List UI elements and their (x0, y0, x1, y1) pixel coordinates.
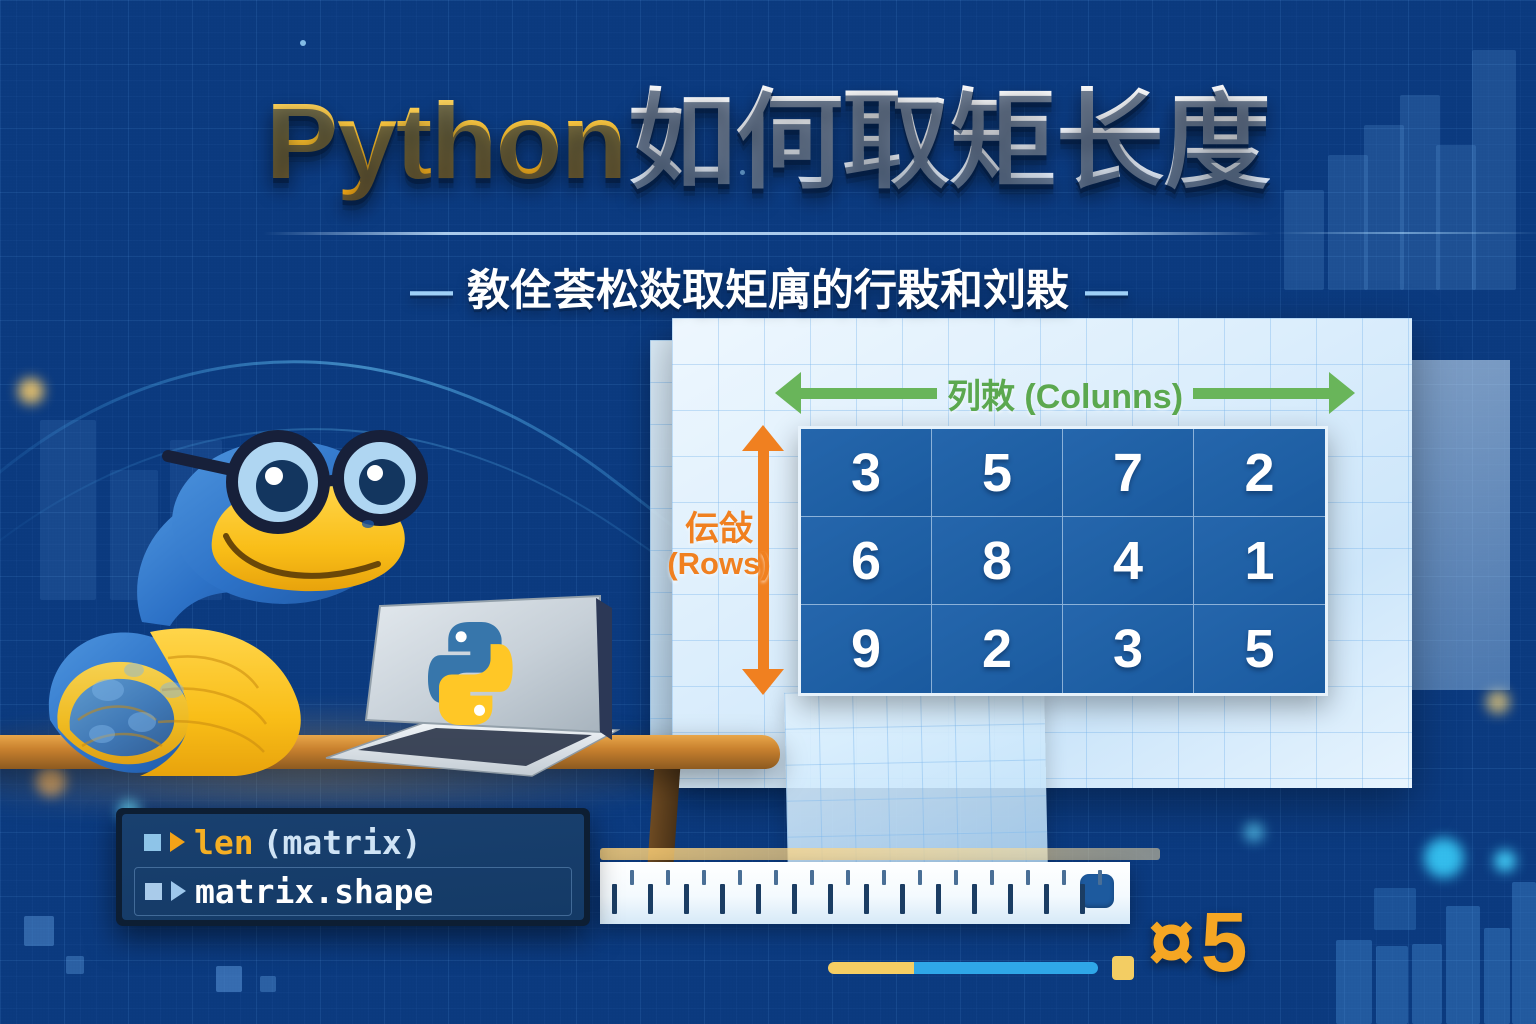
deco-progress-bar (828, 962, 1098, 974)
ruler-tick (846, 870, 850, 885)
ruler-tick (720, 884, 725, 914)
bokeh-dot (1244, 822, 1264, 842)
deco-chip (1112, 956, 1134, 980)
matrix-cell: 8 (932, 517, 1063, 605)
ruler-tick (756, 884, 761, 914)
subtitle-dash-right: — (1069, 267, 1142, 315)
subtitle-dash-left: — (394, 267, 467, 315)
bullet-square-icon (145, 883, 162, 900)
deco-line (1270, 232, 1536, 234)
deco-bar (1412, 944, 1442, 1024)
deco-square (260, 976, 276, 992)
ruler-tick (900, 884, 905, 914)
arrow-left-icon (775, 372, 801, 414)
play-triangle-icon (170, 832, 185, 852)
code-line-1[interactable]: len(matrix) (122, 818, 584, 867)
bokeh-dot (1424, 838, 1464, 878)
matrix-cell: 4 (1063, 517, 1194, 605)
board-front-panel-grid (784, 687, 1048, 872)
deco-bar (1446, 906, 1480, 1024)
ruler-tick (1044, 884, 1049, 914)
board-right-sheet (1400, 360, 1510, 690)
deco-bar (1512, 882, 1536, 1024)
matrix-cell: 2 (932, 605, 1063, 693)
snake-eye-left (256, 460, 308, 512)
code-line-2[interactable]: matrix.shape (134, 867, 572, 916)
ruler-tick (1008, 884, 1013, 914)
progress-remaining (914, 962, 1098, 974)
ruler-tick (1026, 870, 1030, 885)
ruler-tick (612, 884, 617, 914)
ruler-tick (684, 884, 689, 914)
matrix-cell: 7 (1063, 429, 1194, 517)
subtitle-text: 敎佺荟松敥取矩庽的行敤和刘敤 (467, 267, 1069, 315)
arrow-right-icon (1329, 372, 1355, 414)
matrix-cell: 5 (932, 429, 1063, 517)
matrix-cell: 3 (1063, 605, 1194, 693)
code-expression: matrix.shape (195, 872, 433, 911)
matrix-table: 357268419235 (798, 426, 1328, 696)
ruler-tick (1080, 884, 1085, 914)
play-triangle-icon (171, 881, 186, 901)
matrix-cell: 9 (801, 605, 932, 693)
arrow-shaft (801, 388, 937, 399)
bokeh-dot (300, 40, 306, 46)
rows-label-chinese: 伝敆 (685, 510, 753, 548)
ruler-tick (1098, 870, 1102, 885)
ruler-tick (666, 870, 670, 885)
ruler-tick (810, 870, 814, 885)
progress-filled (828, 962, 914, 974)
deco-bar (1336, 940, 1372, 1024)
arrow-down-icon (742, 669, 784, 695)
ruler-tick (648, 884, 653, 914)
matrix-cell: 1 (1194, 517, 1325, 605)
columns-label: 列敇 (Colunns) (937, 369, 1193, 418)
code-args: (matrix) (263, 823, 422, 862)
ruler-tick (792, 884, 797, 914)
matrix-cell: 5 (1194, 605, 1325, 693)
matrix-cell: 6 (801, 517, 932, 605)
deco-bar (1484, 928, 1510, 1024)
columns-annotation: 列敇 (Colunns) (775, 370, 1355, 416)
ruler-tick (1062, 870, 1066, 885)
matrix-cell: 2 (1194, 429, 1325, 517)
bokeh-dot (1486, 690, 1510, 714)
columns-label-english: (Colunns) (1024, 378, 1183, 416)
ruler-tick (702, 870, 706, 885)
matrix-cell: 3 (801, 429, 932, 517)
deco-square (1374, 888, 1416, 930)
ruler-tick (918, 870, 922, 885)
ruler-tick (936, 884, 941, 914)
deco-square (24, 916, 54, 946)
title-chinese: 如何取矩长度 (628, 80, 1270, 201)
ruler-tick (990, 870, 994, 885)
code-function-name: len (194, 823, 254, 862)
bokeh-dot (1494, 850, 1516, 872)
ruler-tick (828, 884, 833, 914)
deco-bar (1376, 946, 1408, 1024)
ruler-tick (774, 870, 778, 885)
ruler (600, 862, 1130, 924)
page-title: Python如何取矩长度 (0, 86, 1536, 196)
arrow-shaft (1193, 388, 1329, 399)
board-front-panel (784, 687, 1048, 872)
laptop (300, 590, 620, 790)
cover-canvas: Python如何取矩长度 —敎佺荟松敥取矩庽的行敤和刘敤— 列敇 (Colunn… (0, 0, 1536, 1024)
columns-label-chinese: 列敇 (947, 378, 1015, 416)
ruler-tick (972, 884, 977, 914)
title-english: Python (266, 80, 628, 201)
arrow-up-icon (742, 425, 784, 451)
badge-number: ¤5 (1148, 900, 1253, 984)
deco-square (66, 956, 84, 974)
snake-eye-right (359, 459, 405, 505)
ruler-marker (1080, 874, 1114, 908)
ruler-highlight (600, 848, 1160, 860)
rows-label: 伝敆 (Rows) (664, 512, 774, 580)
ruler-tick (864, 884, 869, 914)
title-divider (263, 232, 1273, 235)
code-panel: len(matrix) matrix.shape (116, 808, 590, 926)
ruler-tick (738, 870, 742, 885)
deco-square (216, 966, 242, 992)
rows-label-english: (Rows) (664, 548, 774, 581)
ruler-tick (954, 870, 958, 885)
page-subtitle: —敎佺荟松敥取矩庽的行敤和刘敤— (0, 256, 1536, 318)
ruler-tick (630, 870, 634, 885)
ruler-tick (882, 870, 886, 885)
bullet-square-icon (144, 834, 161, 851)
